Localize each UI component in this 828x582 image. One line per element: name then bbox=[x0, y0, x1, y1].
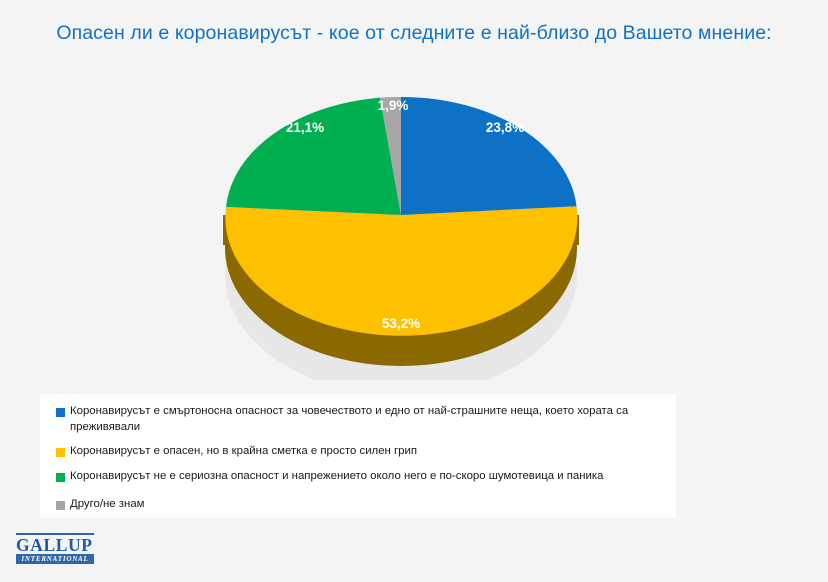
gallup-logo: GALLUP INTERNATIONAL bbox=[16, 533, 96, 564]
logo-bar: INTERNATIONAL bbox=[16, 554, 94, 564]
chart-legend: Коронавирусът е смъртоносна опасност за … bbox=[40, 394, 676, 518]
legend-item-3[interactable]: Друго/не знам bbox=[48, 497, 668, 513]
legend-swatch-icon bbox=[56, 408, 65, 417]
legend-swatch-icon bbox=[56, 501, 65, 510]
pie-slice-green bbox=[226, 98, 401, 215]
pie-label-green: 21,1% bbox=[286, 120, 324, 135]
legend-item-1[interactable]: Коронавирусът е опасен, но в крайна смет… bbox=[48, 444, 668, 460]
content-card: Опасен ли е коронавирусът - кое от следн… bbox=[0, 0, 828, 582]
legend-item-0[interactable]: Коронавирусът е смъртоносна опасност за … bbox=[48, 404, 668, 435]
pie-label-blue: 23,8% bbox=[486, 120, 524, 135]
pie-label-gray: 1,9% bbox=[378, 98, 409, 113]
legend-item-2[interactable]: Коронавирусът не е сериозна опасност и н… bbox=[48, 469, 668, 485]
legend-swatch-icon bbox=[56, 448, 65, 457]
legend-item-label: Коронавирусът е смъртоносна опасност за … bbox=[70, 404, 668, 435]
legend-item-label: Коронавирусът е опасен, но в крайна смет… bbox=[70, 444, 417, 460]
legend-item-label: Коронавирусът не е сериозна опасност и н… bbox=[70, 469, 603, 485]
pie-slice-blue bbox=[401, 97, 577, 215]
pie-label-yellow: 53,2% bbox=[382, 316, 420, 331]
logo-subtitle: INTERNATIONAL bbox=[21, 555, 88, 564]
page-title: Опасен ли е коронавирусът - кое от следн… bbox=[30, 22, 798, 45]
legend-swatch-icon bbox=[56, 473, 65, 482]
pie-chart-svg: 23,8% 53,2% 21,1% 1,9% bbox=[215, 70, 615, 380]
logo-wordmark: GALLUP bbox=[16, 536, 96, 554]
pie-chart: 23,8% 53,2% 21,1% 1,9% bbox=[215, 70, 615, 380]
legend-item-label: Друго/не знам bbox=[70, 497, 145, 513]
slide-root: Опасен ли е коронавирусът - кое от следн… bbox=[0, 0, 828, 582]
